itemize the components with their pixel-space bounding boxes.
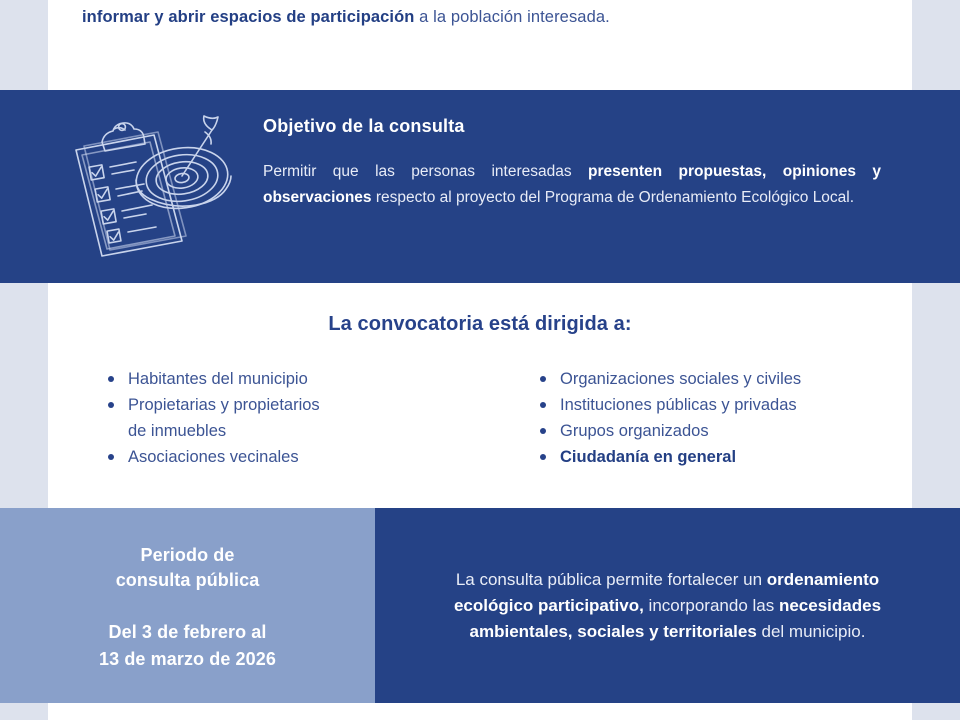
list-item-label: Grupos organizados: [560, 422, 709, 440]
list-item: Grupos organizados: [538, 418, 912, 444]
periodo-heading-line1: Periodo de: [116, 543, 260, 568]
objetivo-band: Objetivo de la consulta Permitir que las…: [0, 90, 960, 283]
list-item-label: Propietarias y propietarios: [128, 396, 320, 414]
list-item: Organizaciones sociales y civiles: [538, 366, 912, 392]
intro-card: Programa de Ordenamiento Ecológico Local…: [48, 0, 912, 90]
list-item-label: de inmuebles: [128, 422, 226, 440]
intro-text-e: a la población interesada.: [414, 8, 609, 26]
bullet-icon: [540, 428, 546, 434]
convocatoria-title: La convocatoria está dirigida a:: [48, 313, 912, 336]
bullet-icon: [108, 454, 114, 460]
convocatoria-column-left: Habitantes del municipio Propietarias y …: [48, 366, 480, 470]
list-item-label: Instituciones públicas y privadas: [560, 396, 797, 414]
list-item: Ciudadanía en general: [538, 444, 912, 470]
convocatoria-card: La convocatoria está dirigida a: Habitan…: [48, 283, 912, 508]
periodo-heading-line2: consulta pública: [116, 568, 260, 593]
frase-text: La consulta pública permite fortalecer u…: [415, 567, 920, 645]
intro-paragraph: Programa de Ordenamiento Ecológico Local…: [82, 0, 878, 30]
objetivo-text-block: Objetivo de la consulta Permitir que las…: [263, 116, 881, 210]
list-item: Habitantes del municipio: [106, 366, 480, 392]
periodo-dates: Del 3 de febrero al 13 de marzo de 2026: [99, 619, 276, 673]
objetivo-body: Permitir que las personas interesadas pr…: [263, 159, 881, 210]
periodo-heading: Periodo de consulta pública: [116, 543, 260, 593]
frase-part-a: La consulta pública permite fortalecer u…: [456, 570, 767, 589]
list-item-label: Asociaciones vecinales: [128, 448, 299, 466]
poster-page: Programa de Ordenamiento Ecológico Local…: [0, 0, 960, 720]
frase-box: La consulta pública permite fortalecer u…: [375, 508, 960, 703]
objetivo-body-c: respecto al proyecto del Programa de Ord…: [372, 189, 855, 206]
objetivo-body-a: Permitir que las personas interesadas: [263, 163, 588, 180]
bullet-icon: [540, 402, 546, 408]
periodo-date-line1: Del 3 de febrero al: [99, 619, 276, 646]
convocatoria-columns: Habitantes del municipio Propietarias y …: [48, 366, 912, 470]
objetivo-title: Objetivo de la consulta: [263, 116, 881, 137]
list-item: Instituciones públicas y privadas: [538, 392, 912, 418]
bullet-icon: [108, 376, 114, 382]
frase-part-e: del municipio.: [757, 622, 866, 641]
clipboard-checklist-target-icon: [62, 108, 242, 258]
list-item-continuation: de inmuebles: [106, 418, 480, 444]
frase-part-c: incorporando las: [644, 596, 779, 615]
bullet-icon: [540, 454, 546, 460]
bullet-icon: [108, 402, 114, 408]
audience-list-right: Organizaciones sociales y civiles Instit…: [538, 366, 912, 470]
list-item: Asociaciones vecinales: [106, 444, 480, 470]
periodo-box: Periodo de consulta pública Del 3 de feb…: [0, 508, 375, 703]
list-item-label: Organizaciones sociales y civiles: [560, 370, 801, 388]
convocatoria-column-right: Organizaciones sociales y civiles Instit…: [480, 366, 912, 470]
intro-purpose: informar y abrir espacios de participaci…: [82, 8, 414, 26]
periodo-date-line2: 13 de marzo de 2026: [99, 646, 276, 673]
bottom-white-strip: [48, 703, 912, 720]
list-item-label: Ciudadanía en general: [560, 448, 736, 466]
list-item-label: Habitantes del municipio: [128, 370, 308, 388]
audience-list-left: Habitantes del municipio Propietarias y …: [106, 366, 480, 470]
bullet-icon: [540, 376, 546, 382]
list-item: Propietarias y propietarios: [106, 392, 480, 418]
